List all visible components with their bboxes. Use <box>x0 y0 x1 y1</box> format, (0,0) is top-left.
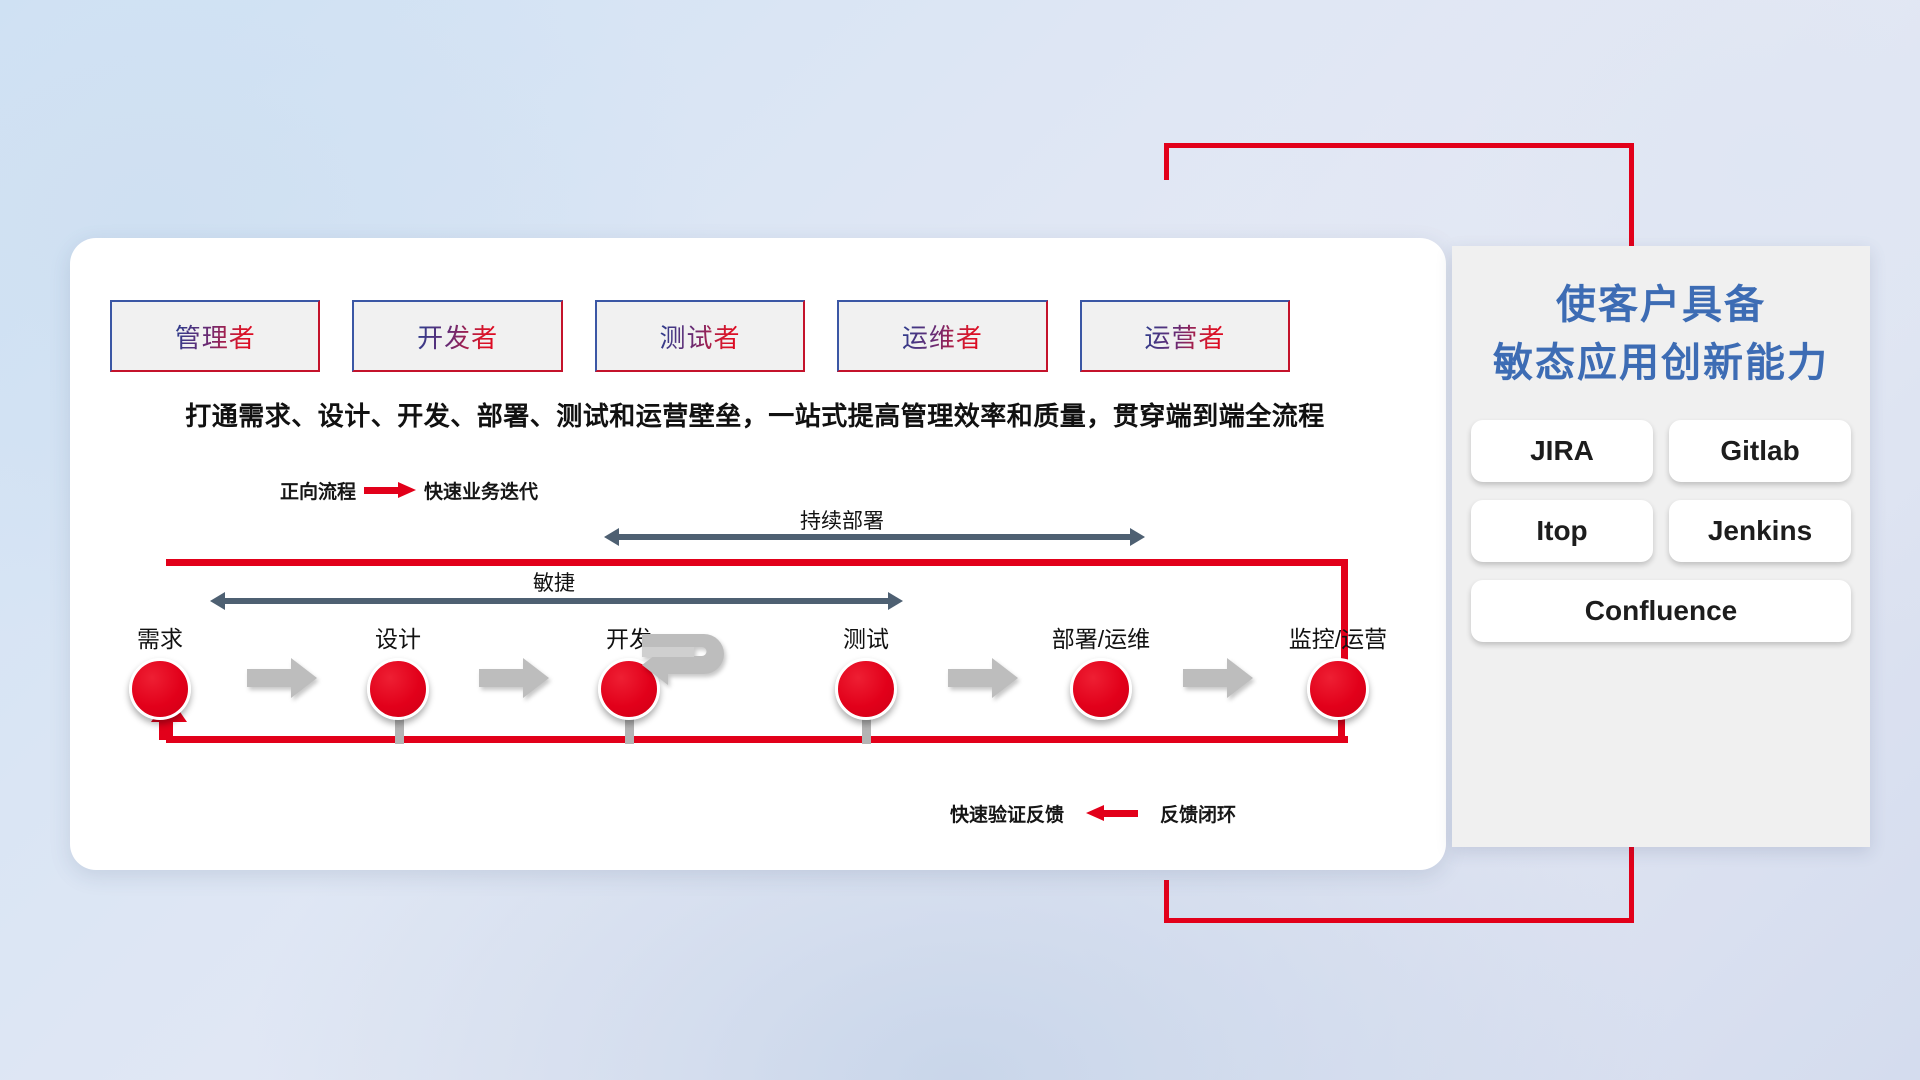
stage-node-circle <box>835 658 897 720</box>
stage-label: 测试 <box>796 620 936 654</box>
stage-design[interactable]: 设计 <box>328 620 468 720</box>
stage-node-circle <box>1070 658 1132 720</box>
feedback-loop-top-rail <box>166 559 1348 566</box>
tool-chip-itop[interactable]: Itop <box>1471 500 1653 562</box>
tool-chip-jira[interactable]: JIRA <box>1471 420 1653 482</box>
red-bracket-left-bottom-stub <box>1164 880 1169 923</box>
stage-requirements[interactable]: 需求 <box>90 620 230 720</box>
role-label: 开发者 <box>417 318 498 355</box>
role-box-tester[interactable]: 测试者 <box>595 300 805 372</box>
role-label: 运营者 <box>1144 318 1225 355</box>
stage-testing[interactable]: 测试 <box>796 620 936 720</box>
role-box-ops[interactable]: 运维者 <box>837 300 1047 372</box>
role-label: 管理者 <box>175 318 256 355</box>
stage-label: 监控/运营 <box>1268 620 1408 654</box>
feedback-to-label: 反馈闭环 <box>1160 800 1236 827</box>
red-bracket-top-segment <box>1164 143 1634 148</box>
stage-deploy-ops[interactable]: 部署/运维 <box>1031 620 1171 720</box>
role-label: 运维者 <box>902 318 983 355</box>
stage-monitor-operations[interactable]: 监控/运营 <box>1268 620 1408 720</box>
tool-chip-list: JIRA Gitlab Itop Jenkins Confluence <box>1452 420 1870 642</box>
role-box-developer[interactable]: 开发者 <box>352 300 562 372</box>
agile-double-arrow-icon <box>210 592 903 610</box>
role-label: 测试者 <box>660 318 741 355</box>
arrow-right-gray-icon <box>1181 655 1255 701</box>
stage-node-circle <box>129 658 191 720</box>
arrow-right-gray-icon <box>245 655 319 701</box>
continuous-deploy-double-arrow-icon <box>604 528 1145 546</box>
iteration-loop-arrow-icon <box>638 627 742 689</box>
description-text: 打通需求、设计、开发、部署、测试和运营壁垒，一站式提高管理效率和质量，贯穿端到端… <box>110 396 1400 433</box>
panel-title-line-2: 敏态应用创新能力 <box>1452 334 1870 392</box>
tool-chip-gitlab[interactable]: Gitlab <box>1669 420 1851 482</box>
role-box-row: 管理者 开发者 测试者 运维者 运营者 <box>110 300 1290 372</box>
stage-node-circle <box>367 658 429 720</box>
arrow-shaft <box>223 598 890 604</box>
forward-flow-from-label: 正向流程 <box>280 477 356 504</box>
stage-label: 部署/运维 <box>1031 620 1171 654</box>
arrow-right-gray-icon <box>946 655 1020 701</box>
arrow-right-gray-icon <box>477 655 551 701</box>
feedback-loop-legend: 快速验证反馈 反馈闭环 <box>950 800 1236 827</box>
arrow-left-red-icon <box>1086 808 1138 819</box>
forward-flow-legend: 正向流程 快速业务迭代 <box>280 477 538 504</box>
feedback-loop-left-rail <box>166 720 173 743</box>
feedback-from-label: 快速验证反馈 <box>950 800 1064 827</box>
feedback-loop-bottom-rail <box>166 736 1348 743</box>
role-box-operations[interactable]: 运营者 <box>1080 300 1290 372</box>
arrowhead-right <box>1130 528 1145 546</box>
red-bracket-bottom-segment <box>1164 918 1634 923</box>
panel-title-line-1: 使客户具备 <box>1452 276 1870 334</box>
arrow-right-red-icon <box>364 485 416 496</box>
tool-chip-confluence[interactable]: Confluence <box>1471 580 1851 642</box>
tool-chip-jenkins[interactable]: Jenkins <box>1669 500 1851 562</box>
stage-label: 设计 <box>328 620 468 654</box>
stage-node-circle <box>1307 658 1369 720</box>
arrowhead-right <box>888 592 903 610</box>
forward-flow-to-label: 快速业务迭代 <box>424 477 538 504</box>
arrow-shaft <box>617 534 1132 540</box>
slide-canvas: 管理者 开发者 测试者 运维者 运营者 打通需求、设计、开发、部署、测试和运营壁… <box>0 0 1920 1080</box>
value-proposition-panel: 使客户具备 敏态应用创新能力 JIRA Gitlab Itop Jenkins … <box>1452 246 1870 847</box>
panel-title: 使客户具备 敏态应用创新能力 <box>1452 276 1870 392</box>
role-box-manager[interactable]: 管理者 <box>110 300 320 372</box>
red-bracket-left-stub <box>1164 143 1169 180</box>
stage-label: 需求 <box>90 620 230 654</box>
